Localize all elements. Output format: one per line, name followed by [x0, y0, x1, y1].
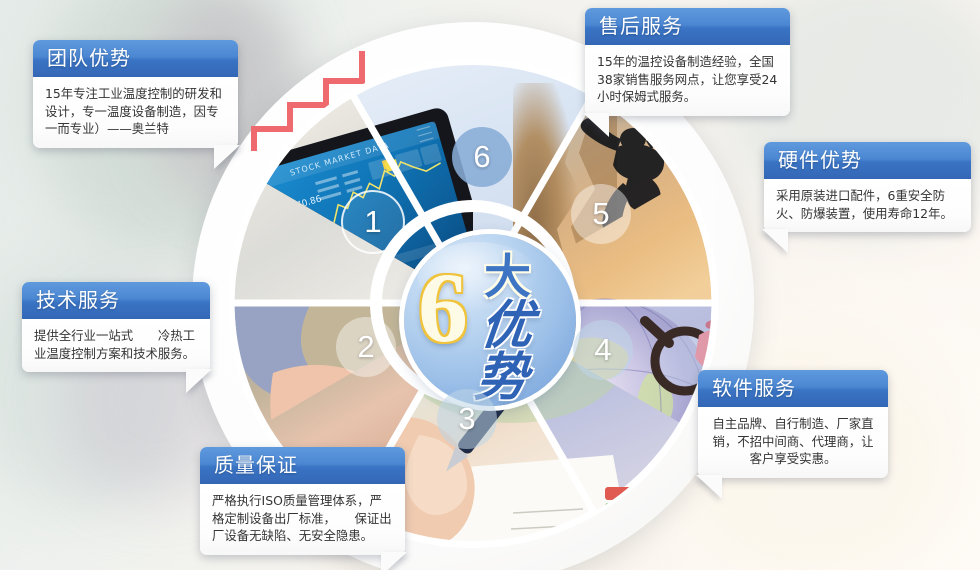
- callout-title: 质量保证: [200, 447, 405, 484]
- badge-2-label: 2: [357, 329, 374, 365]
- callout-tail: [762, 229, 788, 253]
- badge-6-label: 6: [473, 139, 490, 175]
- badge-5[interactable]: 5: [571, 184, 631, 244]
- badge-6[interactable]: 6: [452, 127, 512, 187]
- callout-title: 技术服务: [22, 282, 210, 319]
- badge-1-label: 1: [364, 204, 381, 240]
- callout-tail: [381, 552, 407, 570]
- callout-title: 售后服务: [585, 8, 790, 45]
- callout-quality-assurance[interactable]: 质量保证 严格执行ISO质量管理体系，严格定制设备出厂标准， 保证出厂设备无缺陷…: [200, 447, 405, 555]
- badge-3[interactable]: 3: [437, 389, 497, 449]
- callout-title: 软件服务: [698, 370, 888, 407]
- infographic-canvas: STOCK MARKET DATA INTC 440.86: [0, 0, 980, 570]
- callout-hardware-advantage[interactable]: 硬件优势 采用原装进口配件，6重安全防火、防爆装置，使用寿命12年。: [764, 142, 971, 232]
- badge-2[interactable]: 2: [336, 317, 396, 377]
- callout-body: 15年专注工业温度控制的研发和设计，专一温度设备制造，因专一而专业）——奥兰特: [33, 77, 238, 148]
- callout-tail: [696, 475, 722, 499]
- callout-tail: [186, 369, 212, 393]
- callout-after-sales-service[interactable]: 售后服务 15年的温控设备制造经验，全国38家销售服务网点，让您享受24小时保姆…: [585, 8, 790, 116]
- badge-5-label: 5: [592, 196, 609, 232]
- callout-title: 团队优势: [33, 40, 238, 77]
- badge-4[interactable]: 4: [573, 320, 633, 380]
- callout-team-advantage[interactable]: 团队优势 15年专注工业温度控制的研发和设计，专一温度设备制造，因专一而专业）—…: [33, 40, 238, 148]
- callout-title: 硬件优势: [764, 142, 971, 179]
- callout-tail: [583, 113, 609, 137]
- callout-body: 自主品牌、自行制造、厂家直销，不招中间商、代理商，让客户享受实惠。: [698, 407, 888, 478]
- callout-software-service[interactable]: 软件服务 自主品牌、自行制造、厂家直销，不招中间商、代理商，让客户享受实惠。: [698, 370, 888, 478]
- badge-1[interactable]: 1: [341, 190, 405, 254]
- callout-tail: [214, 145, 240, 169]
- center-emblem: 6 大 优势: [404, 234, 576, 406]
- emblem-big-char: 大: [484, 254, 531, 301]
- callout-body: 采用原装进口配件，6重安全防火、防爆装置，使用寿命12年。: [764, 179, 971, 232]
- callout-body: 15年的温控设备制造经验，全国38家销售服务网点，让您享受24小时保姆式服务。: [585, 45, 790, 116]
- badge-3-label: 3: [458, 401, 475, 437]
- badge-4-label: 4: [594, 332, 611, 368]
- emblem-number: 6: [418, 258, 464, 358]
- emblem-word: 优势: [473, 300, 576, 404]
- callout-technical-service[interactable]: 技术服务 提供全行业一站式 冷热工业温度控制方案和技术服务。: [22, 282, 210, 372]
- callout-body: 严格执行ISO质量管理体系，严格定制设备出厂标准， 保证出厂设备无缺陷、无安全隐…: [200, 484, 405, 555]
- callout-body: 提供全行业一站式 冷热工业温度控制方案和技术服务。: [22, 319, 210, 372]
